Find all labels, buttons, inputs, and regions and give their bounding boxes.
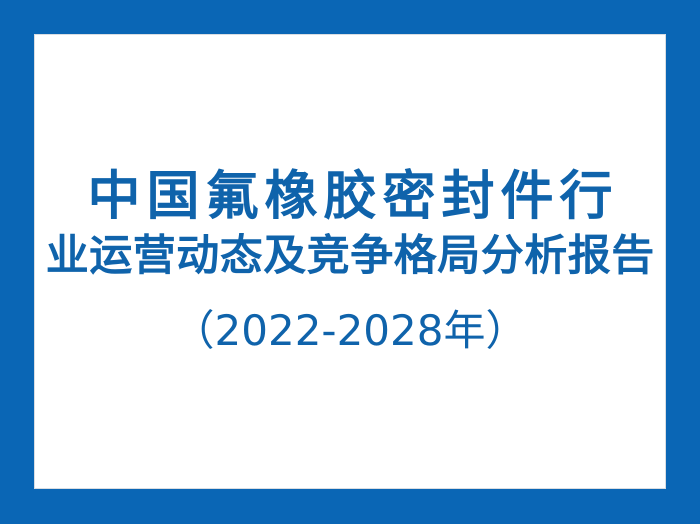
cover-title-line-1: 中国氟橡胶密封件行	[34, 166, 666, 228]
cover-title-period-line: （2022-2028年）	[34, 300, 666, 362]
cover-title-line-2: 业运营动态及竞争格局分析报告	[34, 228, 666, 284]
report-cover-page: 中国氟橡胶密封件行 业运营动态及竞争格局分析报告 （2022-2028年）	[0, 0, 700, 524]
white-content-panel: 中国氟橡胶密封件行 业运营动态及竞争格局分析报告 （2022-2028年）	[34, 34, 666, 489]
cover-title-block: 中国氟橡胶密封件行 业运营动态及竞争格局分析报告 （2022-2028年）	[34, 166, 666, 362]
